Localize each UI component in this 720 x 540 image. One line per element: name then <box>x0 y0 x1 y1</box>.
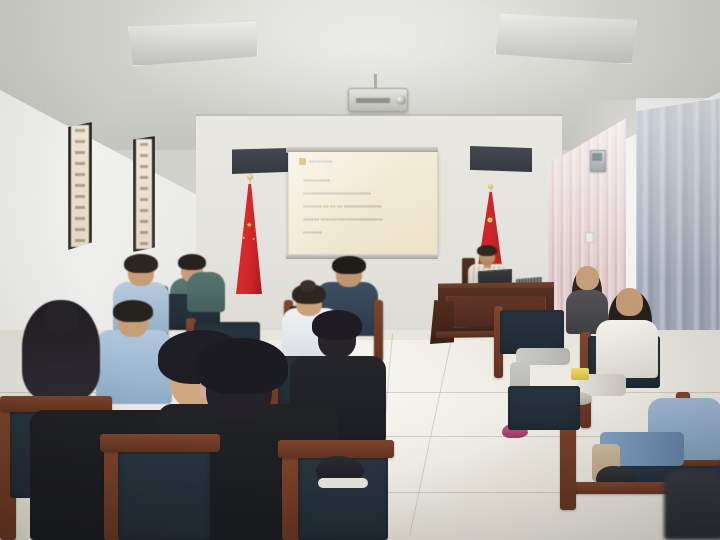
flag-star-icon: ★ <box>246 222 252 229</box>
projector-lens-icon <box>396 95 406 105</box>
flag-star-icon: ★ <box>252 238 255 242</box>
wall-ceiling-joint <box>196 114 562 116</box>
yellow-notebook[interactable] <box>571 368 589 380</box>
light-switch[interactable] <box>585 232 594 243</box>
national-flag-finial-icon <box>247 174 253 180</box>
shoe-sole <box>318 478 368 488</box>
chair-back <box>508 386 580 430</box>
conference-room-photo: ×××××××× ×××××××××× ××××××××××××××××××××… <box>0 0 720 540</box>
screen-glare <box>288 152 436 256</box>
curtain-valance-left <box>232 148 288 174</box>
calligraphy-scroll-2 <box>133 136 155 252</box>
flag-star-icon: ★ <box>242 236 246 240</box>
calligraphy-scroll-1 <box>68 122 92 250</box>
projector-label <box>356 98 390 103</box>
presenter-hair <box>477 245 497 256</box>
chair-frame <box>100 434 220 452</box>
party-flag-finial-icon <box>488 184 493 189</box>
ac-panel-display <box>592 153 602 161</box>
party-flag-emblem-icon <box>486 216 494 224</box>
curtain-valance-right <box>470 146 532 172</box>
chair-frame <box>374 300 383 362</box>
chair-back <box>118 448 210 540</box>
